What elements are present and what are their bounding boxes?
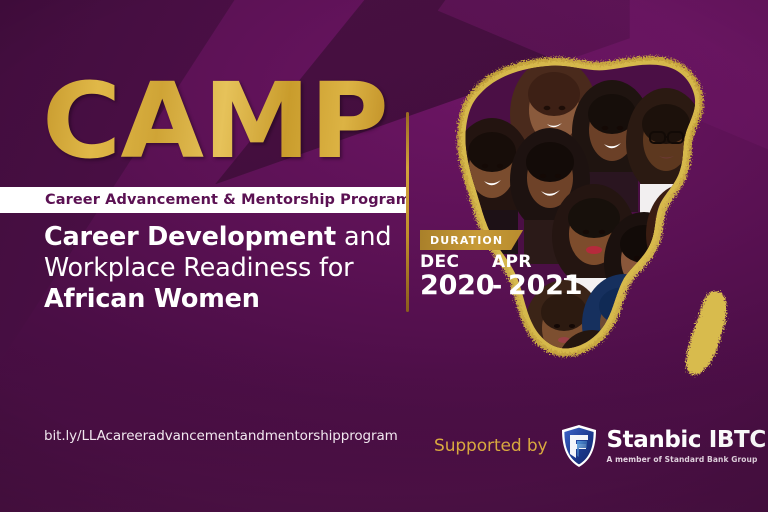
duration-separator: - [486,273,508,299]
duration-start-year: 2020 [420,272,486,300]
subtitle-banner-text: Career Advancement & Mentorship Program [45,192,411,208]
headline: Career Development and Workplace Readine… [44,222,394,315]
sponsor-label: Supported by [434,436,548,456]
registration-url[interactable]: bit.ly/LLAcareeradvancementandmentorship… [44,428,398,444]
headline-line3: African Women [44,284,394,315]
headline-line1-strong: Career Development [44,222,336,252]
promotional-poster: CAMP CAMP Career Advancement & Mentorshi… [0,0,768,512]
portrait-mosaic [418,36,766,402]
subtitle-banner: Career Advancement & Mentorship Program [0,187,406,213]
portrait-10 [582,274,666,402]
duration-dates: DEC APR 2020 - 2021 [420,254,582,300]
duration-badge-label: DURATION [430,234,503,247]
duration-end-year: 2021 [508,272,582,300]
stanbic-shield-icon [560,424,598,468]
headline-line2: Workplace Readiness for [44,253,394,284]
duration-badge: DURATION [420,230,523,250]
camp-title: CAMP [42,74,388,170]
sponsor-name: Stanbic IBTC [607,429,766,452]
vertical-gold-divider [406,112,409,312]
africa-portrait-collage [418,36,766,402]
sponsor-tagline: A member of Standard Bank Group [607,456,766,464]
sponsor-name-block: Stanbic IBTC A member of Standard Bank G… [607,429,766,464]
headline-line1-light: and [336,222,391,252]
sponsor-row: Supported by [434,424,766,468]
madagascar-island [686,291,727,375]
sponsor-logo: Stanbic IBTC A member of Standard Bank G… [560,424,766,468]
